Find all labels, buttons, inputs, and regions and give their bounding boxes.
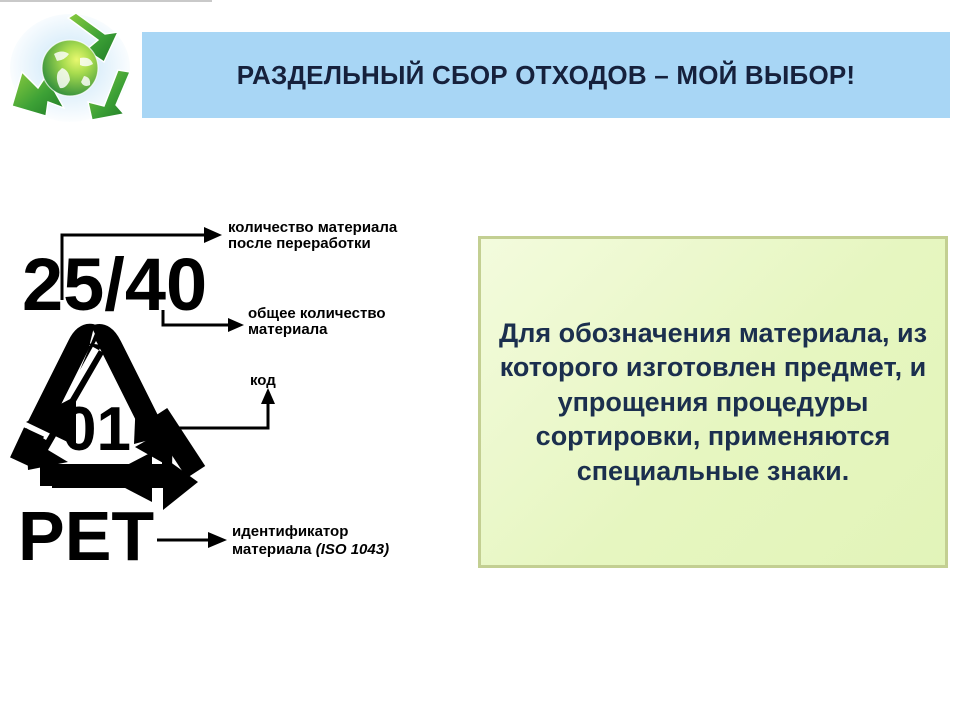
callout-total-amount-line1: общее количество bbox=[248, 305, 386, 322]
callout-recycled-amount-line2: после переработки bbox=[228, 235, 371, 252]
page-title: РАЗДЕЛЬНЫЙ СБОР ОТХОДОВ – МОЙ ВЫБОР! bbox=[237, 60, 856, 91]
callout-total-amount-line2: материала bbox=[248, 321, 328, 338]
callout-recycled-amount-arrowhead bbox=[204, 227, 222, 243]
slide-header: РАЗДЕЛЬНЫЙ СБОР ОТХОДОВ – МОЙ ВЫБОР! bbox=[0, 0, 960, 130]
callout-material-id-line1: идентификатор bbox=[232, 523, 348, 540]
recycling-code-number: 01 bbox=[62, 395, 131, 464]
callout-material-id-line2: материала (ISO 1043) bbox=[232, 541, 389, 558]
callout-material-id-arrowhead bbox=[208, 532, 227, 548]
callout-code-arrowhead bbox=[261, 388, 275, 404]
recycling-code-diagram: 25/40 bbox=[0, 200, 480, 600]
ratio-label: 25/40 bbox=[22, 243, 207, 326]
material-identifier-label: PET bbox=[18, 497, 154, 575]
callout-total-amount-arrowhead bbox=[228, 318, 244, 332]
info-panel-text: Для обозначения материала, из которого и… bbox=[495, 316, 931, 489]
header-title-banner: РАЗДЕЛЬНЫЙ СБОР ОТХОДОВ – МОЙ ВЫБОР! bbox=[142, 32, 950, 118]
info-panel: Для обозначения материала, из которого и… bbox=[478, 236, 948, 568]
callout-code-line1: код bbox=[250, 372, 276, 389]
recycling-globe-icon bbox=[6, 10, 134, 126]
callout-recycled-amount-line1: количество материала bbox=[228, 219, 398, 236]
